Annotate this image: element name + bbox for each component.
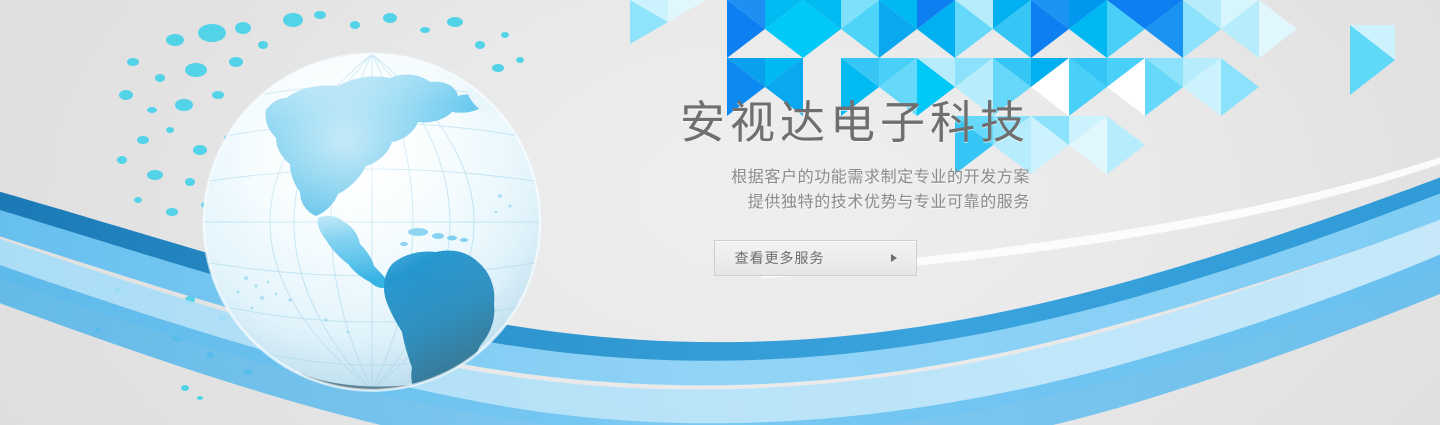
splatter-dot [127, 58, 139, 66]
subtitle-line-1: 根据客户的功能需求制定专业的开发方案 [600, 165, 1030, 190]
splatter-dot [212, 91, 224, 99]
splatter-dot [314, 11, 326, 19]
splatter-dot [447, 17, 463, 27]
splatter-dot [475, 41, 485, 49]
splatter-dot [147, 170, 163, 180]
page-title: 安视达电子科技 [600, 100, 1030, 145]
view-more-services-button[interactable]: 查看更多服务 [714, 240, 917, 276]
splatter-dot [175, 99, 193, 111]
splatter-dot [258, 41, 268, 49]
splatter-dot [166, 208, 178, 216]
subtitle-line-2: 提供独特的技术优势与专业可靠的服务 [600, 190, 1030, 215]
hero-banner: 安视达电子科技 根据客户的功能需求制定专业的开发方案 提供独特的技术优势与专业可… [0, 0, 1440, 425]
splatter-dot [155, 74, 165, 82]
mosaic-triangle [1259, 0, 1297, 58]
splatter-dot [117, 156, 127, 164]
splatter-dot [119, 90, 133, 100]
splatter-dot [181, 385, 189, 391]
splatter-dot [420, 27, 430, 33]
splatter-dot [197, 396, 203, 400]
splatter-dot [193, 145, 207, 155]
hero-subtitle: 根据客户的功能需求制定专业的开发方案 提供独特的技术优势与专业可靠的服务 [600, 165, 1030, 215]
splatter-dot [516, 57, 524, 63]
mosaic-triangle [1221, 58, 1259, 116]
splatter-dot [166, 127, 174, 133]
hero-content: 安视达电子科技 根据客户的功能需求制定专业的开发方案 提供独特的技术优势与专业可… [600, 100, 1030, 276]
splatter-dot [350, 21, 360, 29]
splatter-dot [134, 197, 142, 203]
splatter-dot [185, 178, 195, 186]
triangle-right-icon [891, 254, 897, 262]
mosaic-triangle [1107, 116, 1145, 174]
cta-container: 查看更多服务 [600, 240, 1030, 276]
splatter-dot [235, 22, 251, 34]
splatter-dot [501, 32, 509, 38]
splatter-dot [147, 107, 157, 113]
splatter-dot [137, 136, 149, 144]
splatter-dot [185, 63, 207, 77]
splatter-dot [198, 24, 226, 42]
cta-label: 查看更多服务 [735, 248, 825, 268]
splatter-dot [383, 13, 397, 23]
splatter-dot [166, 34, 184, 46]
splatter-dot [283, 13, 303, 27]
splatter-dot [492, 64, 504, 72]
splatter-dot [229, 57, 243, 67]
mosaic-triangle [668, 0, 706, 22]
